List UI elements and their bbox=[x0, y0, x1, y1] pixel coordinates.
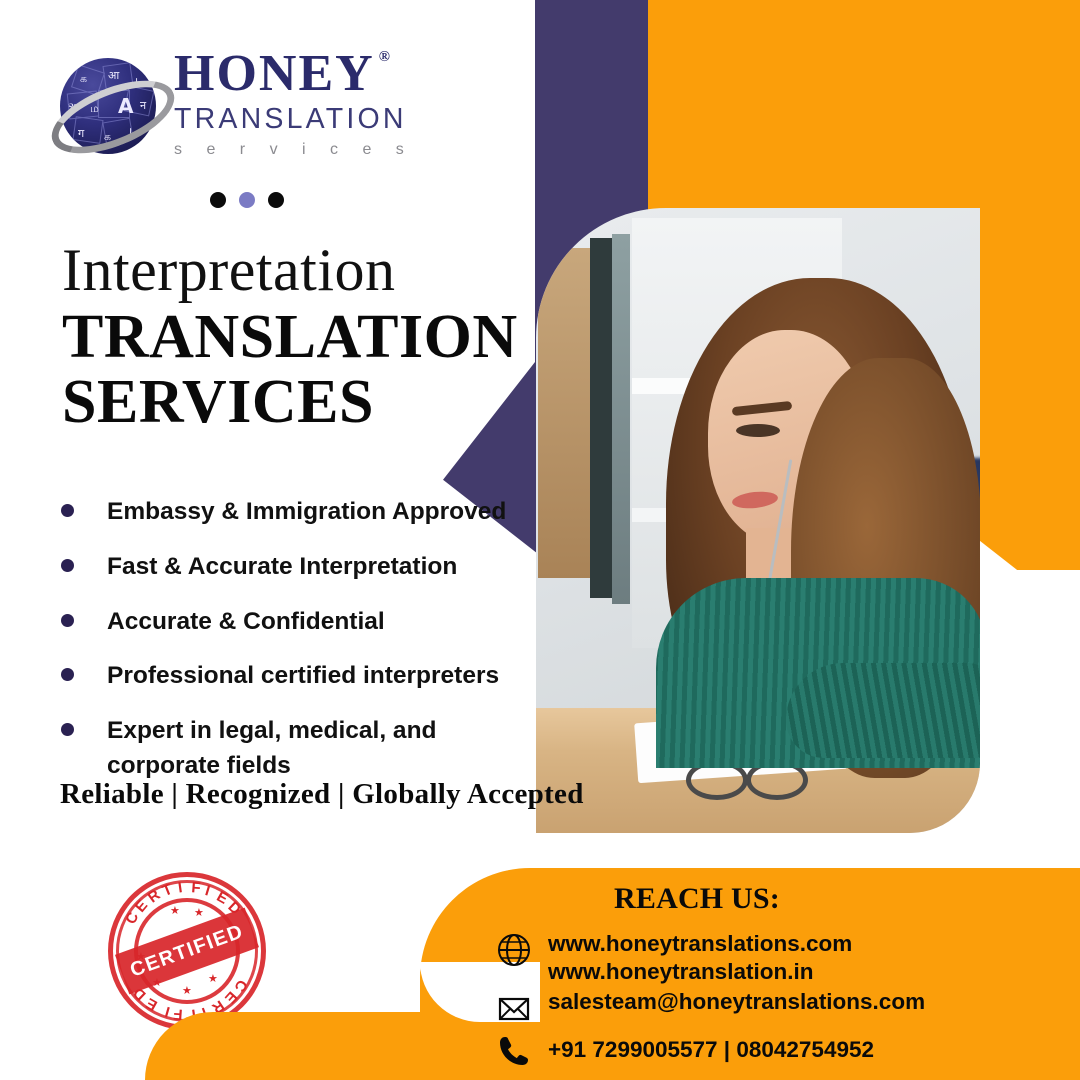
bullet-dot-icon bbox=[61, 723, 74, 736]
logo-wordmark-honey: HONEY® bbox=[174, 48, 454, 100]
bullet-dot-icon bbox=[61, 668, 74, 681]
contact-row-email[interactable]: salesteam@honeytranslations.com bbox=[494, 988, 925, 1028]
contact-row-website[interactable]: www.honeytranslations.com www.honeytrans… bbox=[494, 930, 852, 985]
contact-heading: REACH US: bbox=[614, 882, 780, 916]
tagline: Reliable | Recognized | Globally Accepte… bbox=[60, 778, 584, 811]
dot-3 bbox=[268, 192, 284, 208]
dot-2 bbox=[239, 192, 255, 208]
certified-stamp-icon: C E R T I F I E D C E R T I F I E D ★ ★ … bbox=[108, 872, 266, 1030]
bullet-dot-icon bbox=[61, 504, 74, 517]
globe-icon bbox=[494, 930, 534, 970]
feature-list: Embassy & Immigration Approved Fast & Ac… bbox=[55, 495, 545, 804]
phone-icon bbox=[494, 1031, 534, 1071]
phone-numbers[interactable]: +91 7299005577 | 08042754952 bbox=[548, 1031, 874, 1064]
globe-logo-icon: க आ । અ ம A न ग க । bbox=[52, 54, 160, 162]
website-links[interactable]: www.honeytranslations.com www.honeytrans… bbox=[548, 930, 852, 985]
list-item-label: Expert in legal, medical, and corporate … bbox=[107, 714, 457, 784]
headline-script: Interpretation bbox=[62, 236, 396, 305]
list-item-label: Accurate & Confidential bbox=[107, 605, 385, 640]
logo-wordmark-translation: TRANSLATION bbox=[174, 100, 454, 138]
list-item-label: Fast & Accurate Interpretation bbox=[107, 550, 457, 585]
list-item-label: Professional certified interpreters bbox=[107, 659, 499, 694]
list-item: Expert in legal, medical, and corporate … bbox=[55, 714, 545, 784]
website-2[interactable]: www.honeytranslation.in bbox=[548, 958, 852, 986]
headline-line-1: TRANSLATION bbox=[62, 305, 518, 370]
dot-1 bbox=[210, 192, 226, 208]
poster-canvas: க आ । અ ம A न ग க । HONEY® TRANSLATION s… bbox=[0, 0, 1080, 1080]
list-item: Fast & Accurate Interpretation bbox=[55, 550, 545, 585]
envelope-icon bbox=[494, 988, 534, 1028]
brand-logo: க आ । અ ம A न ग க । HONEY® TRANSLATION s… bbox=[52, 48, 452, 173]
email-address[interactable]: salesteam@honeytranslations.com bbox=[548, 988, 925, 1016]
registered-trademark-icon: ® bbox=[379, 50, 392, 65]
headline-line-2: SERVICES bbox=[62, 370, 518, 435]
bullet-dot-icon bbox=[61, 559, 74, 572]
list-item: Professional certified interpreters bbox=[55, 659, 545, 694]
contact-panel-extension bbox=[145, 1012, 545, 1080]
interpreter-photo bbox=[536, 208, 980, 833]
contact-row-phone[interactable]: +91 7299005577 | 08042754952 bbox=[494, 1031, 874, 1071]
website-1[interactable]: www.honeytranslations.com bbox=[548, 930, 852, 958]
decorative-dots bbox=[210, 192, 284, 208]
list-item: Embassy & Immigration Approved bbox=[55, 495, 545, 530]
list-item: Accurate & Confidential bbox=[55, 605, 545, 640]
bullet-dot-icon bbox=[61, 614, 74, 627]
logo-wordmark-services: s e r v i c e s bbox=[174, 138, 454, 162]
list-item-label: Embassy & Immigration Approved bbox=[107, 495, 506, 530]
headline-main: TRANSLATION SERVICES bbox=[62, 305, 518, 435]
